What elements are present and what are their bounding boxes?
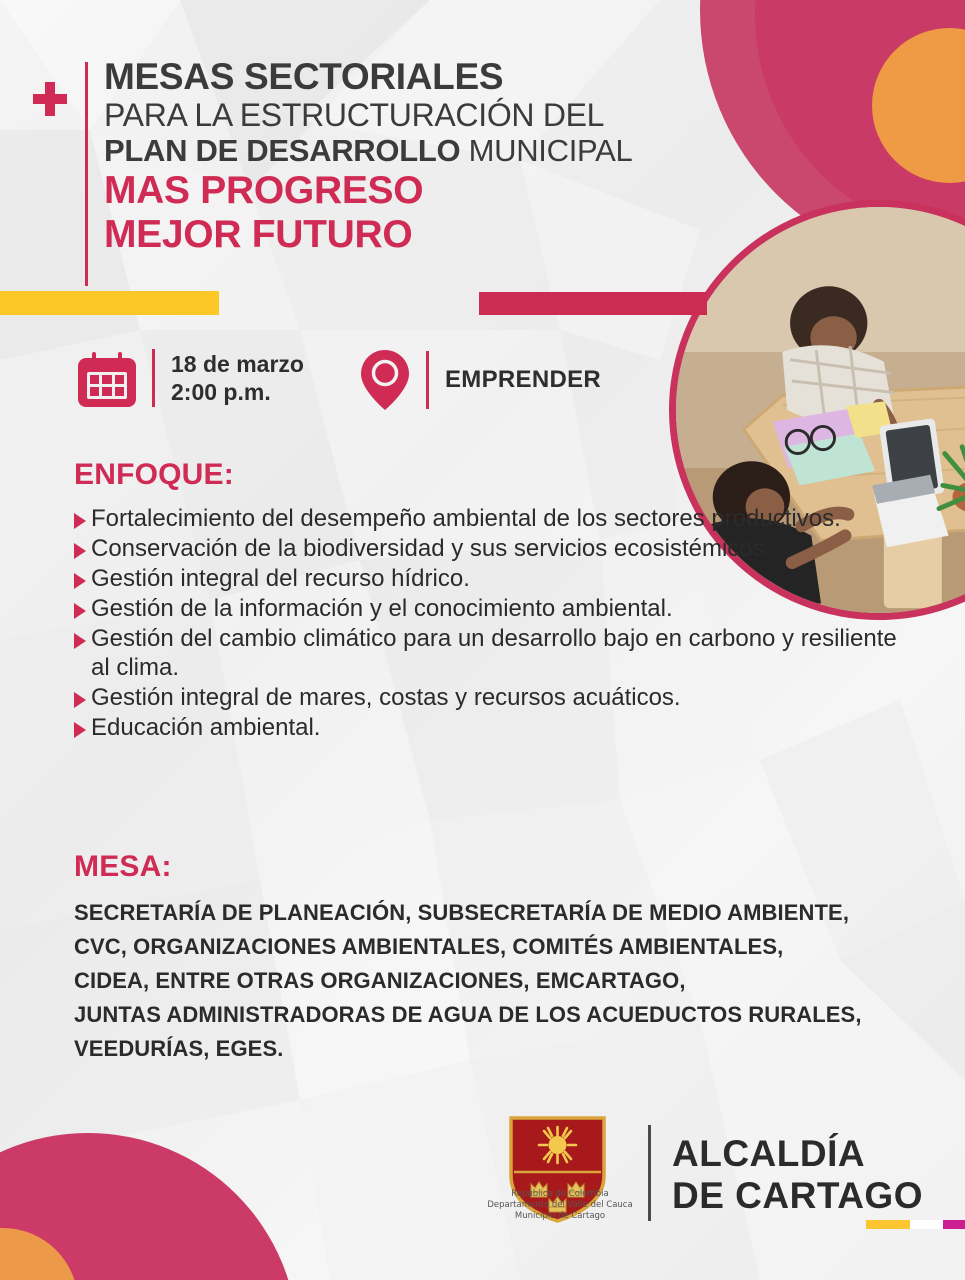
calendar-grid <box>87 372 127 399</box>
list-item: Gestión integral del recurso hídrico. <box>74 564 914 593</box>
mesa-line: SECRETARÍA DE PLANEACIÓN, SUBSECRETARÍA … <box>74 896 934 930</box>
crest-caption-line-1: República de Colombia <box>480 1189 640 1200</box>
venue-name: EMPRENDER <box>445 366 601 394</box>
title-line-3-bold: PLAN DE DESARROLLO <box>104 133 460 168</box>
plus-icon <box>33 82 67 116</box>
slogan-line-1: MAS PROGRESO <box>104 169 724 213</box>
brand-accent-bars <box>866 1220 965 1229</box>
list-item: Gestión del cambio climático para un des… <box>74 624 914 682</box>
bullet-triangle-icon <box>74 543 86 559</box>
mesa-participants: SECRETARÍA DE PLANEACIÓN, SUBSECRETARÍA … <box>74 896 934 1066</box>
title-line-1: MESAS SECTORIALES <box>104 57 724 97</box>
list-item: Educación ambiental. <box>74 713 914 742</box>
enfoque-list: Fortalecimiento del desempeño ambiental … <box>74 504 914 743</box>
date-divider <box>152 349 155 407</box>
mesa-title: MESA: <box>74 850 172 884</box>
mesa-line: VEEDURÍAS, EGES. <box>74 1032 934 1066</box>
title-line-2: PARA LA ESTRUCTURACIÓN DEL <box>104 97 724 133</box>
event-date: 18 de marzo <box>171 350 304 378</box>
brand-wordmark: ALCALDÍA DE CARTAGO <box>672 1133 923 1217</box>
list-item: Gestión integral de mares, costas y recu… <box>74 683 914 712</box>
list-item-label: Conservación de la biodiversidad y sus s… <box>91 534 771 563</box>
brand-bar-yellow <box>866 1220 910 1229</box>
list-item-label: Educación ambiental. <box>91 713 320 742</box>
title-line-3: PLAN DE DESARROLLO MUNICIPAL <box>104 133 724 169</box>
accent-bar-crimson <box>479 292 707 315</box>
poster-canvas: MESAS SECTORIALES PARA LA ESTRUCTURACIÓN… <box>0 0 965 1280</box>
mesa-line: JUNTAS ADMINISTRADORAS DE AGUA DE LOS AC… <box>74 998 934 1032</box>
crest-caption: República de Colombia Departamento del V… <box>480 1189 640 1222</box>
date-block: 18 de marzo 2:00 p.m. <box>78 349 304 407</box>
crest-caption-line-2: Departamento del Valle del Cauca <box>480 1200 640 1211</box>
list-item-label: Gestión del cambio climático para un des… <box>91 624 914 682</box>
header-accent-rule <box>85 62 88 286</box>
list-item: Fortalecimiento del desempeño ambiental … <box>74 504 914 533</box>
venue-divider <box>426 351 429 409</box>
bullet-triangle-icon <box>74 722 86 738</box>
list-item-label: Fortalecimiento del desempeño ambiental … <box>91 504 841 533</box>
mesa-line: CIDEA, ENTRE OTRAS ORGANIZACIONES, EMCAR… <box>74 964 934 998</box>
location-pin-glyph <box>360 349 410 411</box>
brand-bar-white <box>910 1220 943 1229</box>
title-line-3-rest: MUNICIPAL <box>460 133 632 168</box>
list-item-label: Gestión de la información y el conocimie… <box>91 594 673 623</box>
brand-line-1: ALCALDÍA <box>672 1133 923 1175</box>
list-item-label: Gestión integral de mares, costas y recu… <box>91 683 681 712</box>
location-pin-icon <box>360 349 410 411</box>
crest-caption-line-3: Municipio de Cartago <box>480 1211 640 1222</box>
bullet-triangle-icon <box>74 692 86 708</box>
calendar-icon <box>78 349 136 407</box>
accent-bar-yellow <box>0 291 219 315</box>
bullet-triangle-icon <box>74 603 86 619</box>
slogan-line-2: MEJOR FUTURO <box>104 213 724 257</box>
enfoque-title: ENFOQUE: <box>74 458 234 492</box>
list-item-label: Gestión integral del recurso hídrico. <box>91 564 470 593</box>
footer-divider <box>648 1125 651 1221</box>
brand-bar-magenta <box>943 1220 965 1229</box>
list-item: Gestión de la información y el conocimie… <box>74 594 914 623</box>
bullet-triangle-icon <box>74 633 86 649</box>
mesa-line: CVC, ORGANIZACIONES AMBIENTALES, COMITÉS… <box>74 930 934 964</box>
list-item: Conservación de la biodiversidad y sus s… <box>74 534 914 563</box>
bullet-triangle-icon <box>74 513 86 529</box>
bullet-triangle-icon <box>74 573 86 589</box>
poster-title-block: MESAS SECTORIALES PARA LA ESTRUCTURACIÓN… <box>104 57 724 257</box>
venue-block: EMPRENDER <box>360 349 601 411</box>
event-time: 2:00 p.m. <box>171 378 304 406</box>
brand-line-2: DE CARTAGO <box>672 1175 923 1217</box>
date-text-group: 18 de marzo 2:00 p.m. <box>171 350 304 406</box>
